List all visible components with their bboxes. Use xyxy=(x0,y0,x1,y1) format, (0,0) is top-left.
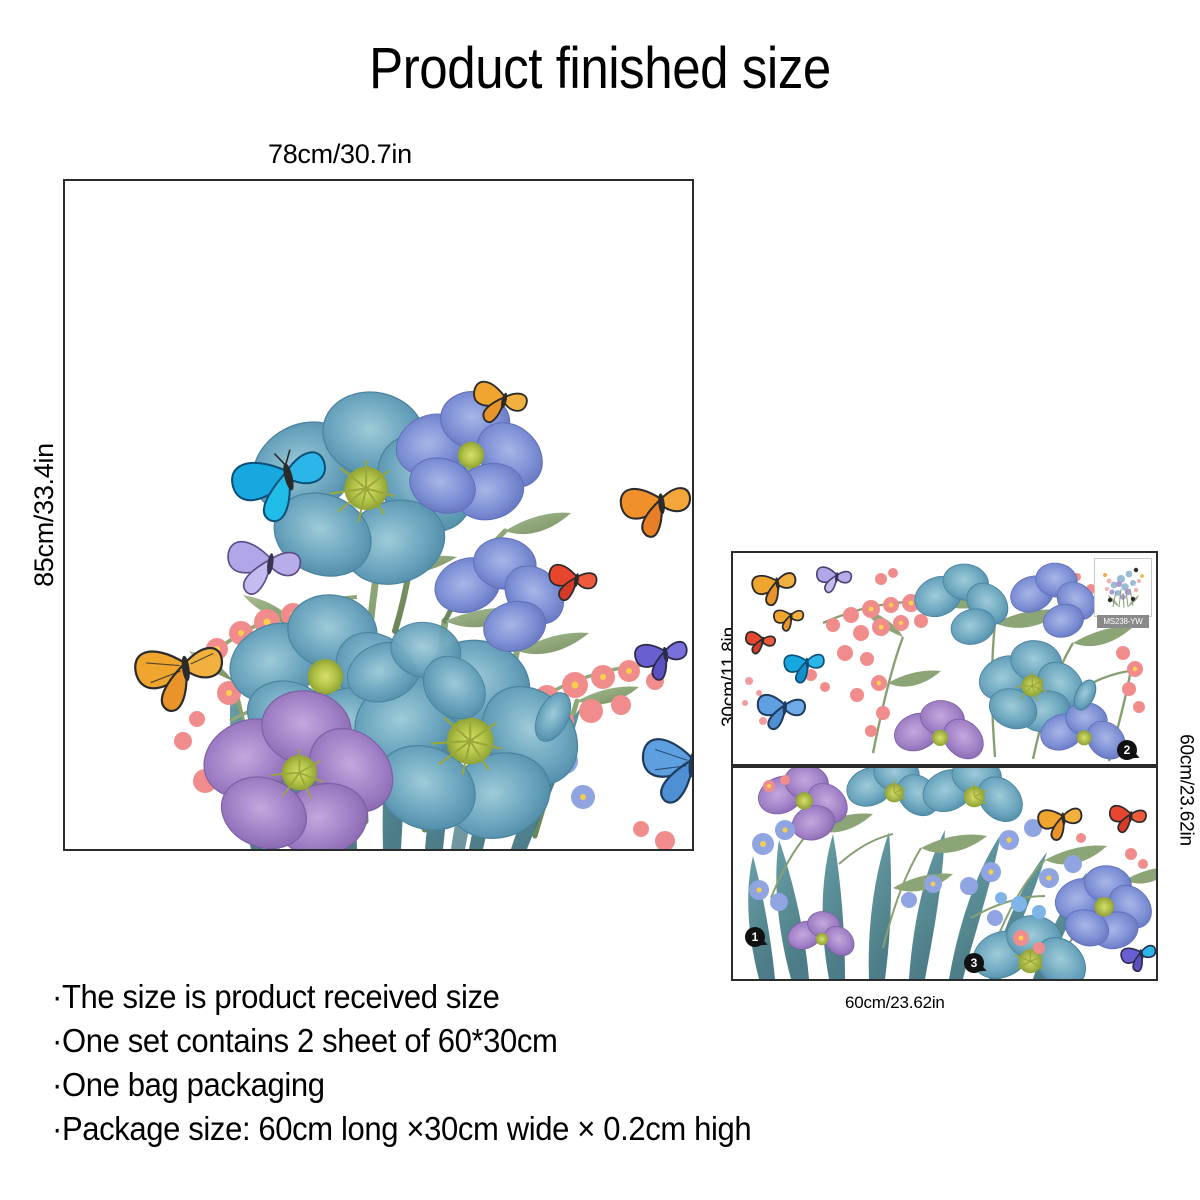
spec-line-4: ·Package size: 60cm long ×30cm wide × 0.… xyxy=(52,1107,1030,1151)
product-thumbnail-card: MS238-YW xyxy=(1094,558,1150,632)
floral-arrangement-artwork xyxy=(65,181,692,849)
infographic-canvas: Product finished size 78cm/30.7in 85cm/3… xyxy=(0,0,1200,1200)
sheet-total-height-label: 60cm/23.62in xyxy=(1171,698,1200,883)
sheets-panel: 2 xyxy=(731,551,1158,981)
sheet-bottom: 1 3 xyxy=(731,766,1158,981)
product-code-label: MS238-YW xyxy=(1097,615,1149,628)
sheet-badge-3: 3 xyxy=(964,953,984,973)
main-height-label: 85cm/33.4in xyxy=(29,405,59,625)
sheet-badge-2: 2 xyxy=(1117,740,1137,760)
sheet-badge-1: 1 xyxy=(745,927,765,947)
spec-line-1: ·The size is product received size xyxy=(52,975,1030,1019)
spec-line-3: ·One bag packaging xyxy=(52,1063,1030,1107)
spec-line-2: ·One set contains 2 sheet of 60*30cm xyxy=(52,1019,1030,1063)
sheet-top: 2 xyxy=(731,551,1158,766)
page-title: Product finished size xyxy=(72,38,1128,100)
spec-list: ·The size is product received size ·One … xyxy=(52,975,1092,1151)
main-preview-panel xyxy=(63,179,694,851)
thumbnail-art xyxy=(1095,559,1151,616)
sheet-top-artwork xyxy=(733,553,1156,764)
main-width-label: 78cm/30.7in xyxy=(268,139,412,169)
product-thumbnail-image xyxy=(1094,558,1152,617)
sheet-bottom-artwork xyxy=(733,768,1156,979)
